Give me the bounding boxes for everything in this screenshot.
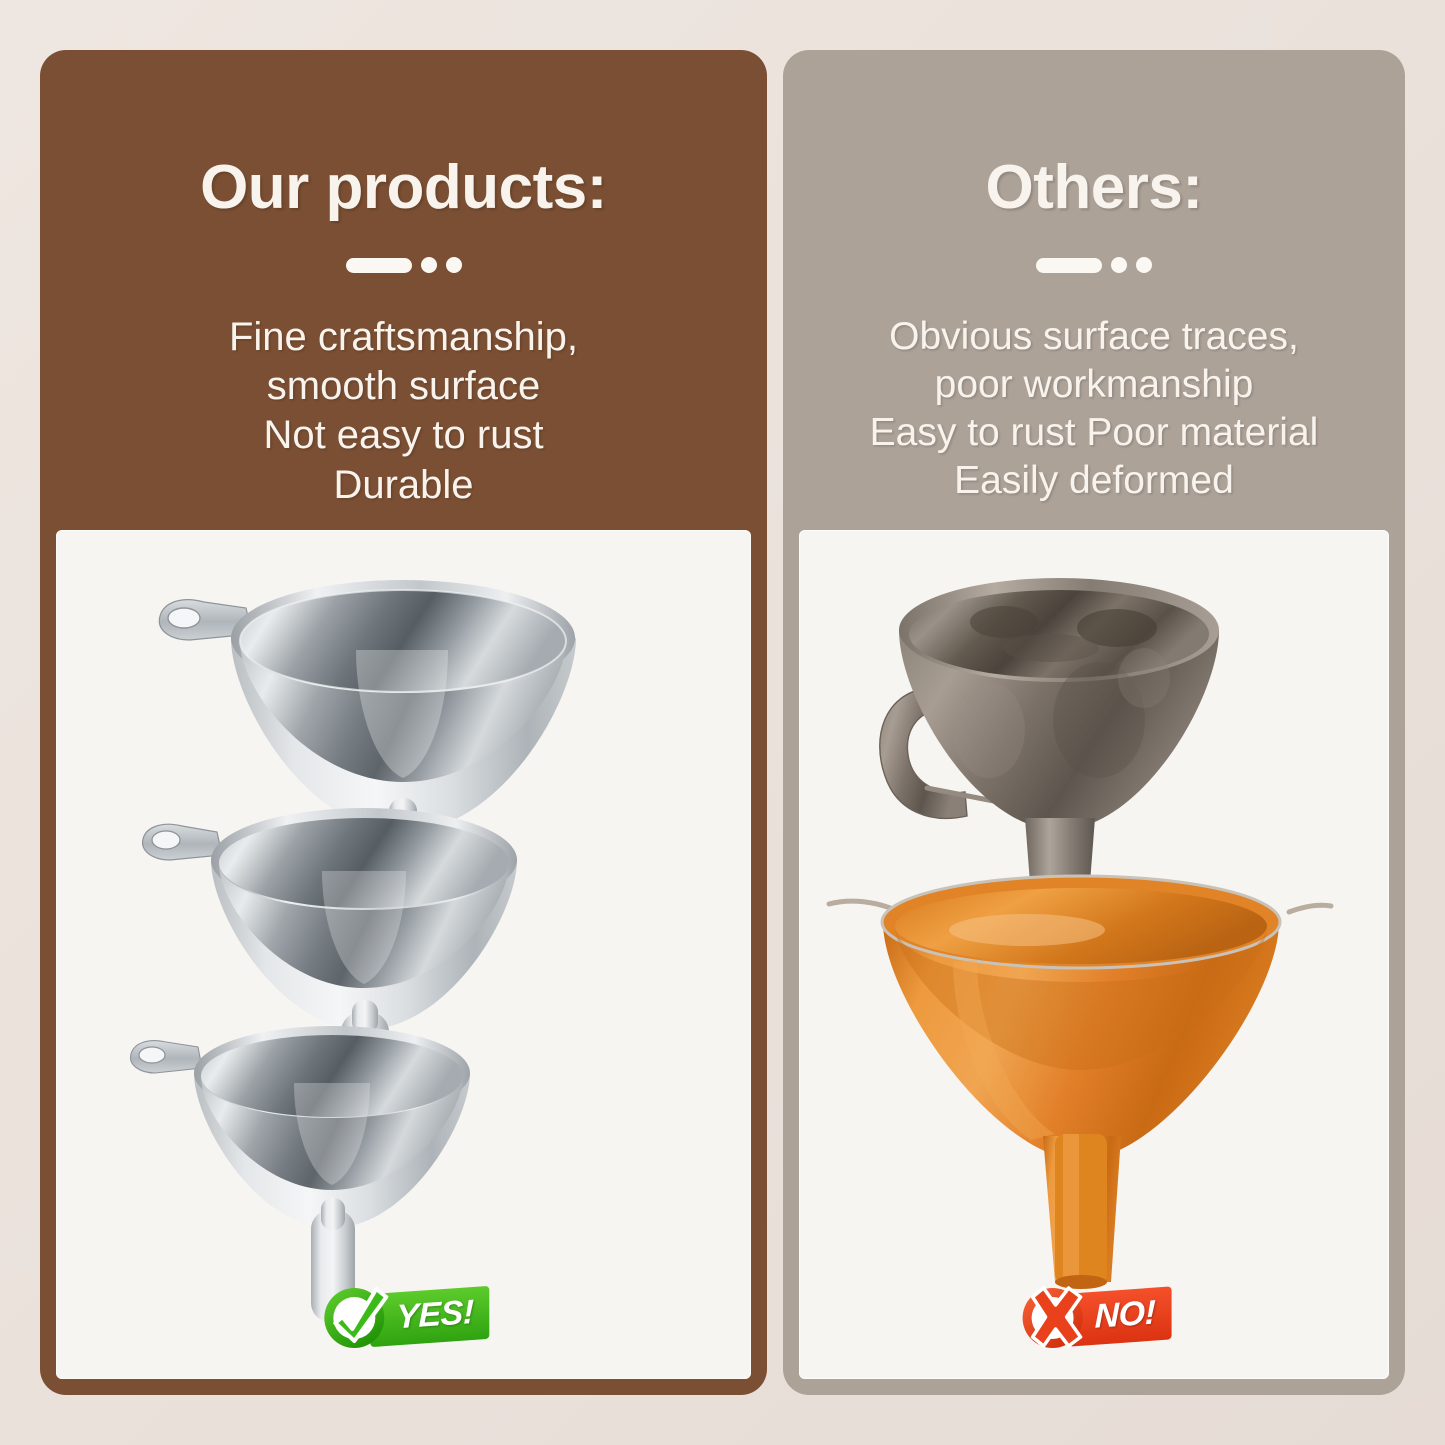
- right-product-photo: NO!: [799, 530, 1389, 1379]
- divider-dot-2: [446, 257, 462, 273]
- divider-dot-1: [421, 257, 437, 273]
- stainless-funnels-illustration: [56, 530, 751, 1350]
- our-products-panel: Our products: Fine craftsmanship, smooth…: [40, 50, 767, 1395]
- right-panel-description: Obvious surface traces, poor workmanship…: [870, 273, 1319, 505]
- rusty-metal-funnel: [880, 578, 1219, 904]
- divider-dot-1: [1111, 257, 1127, 273]
- left-divider-ornament: [346, 257, 462, 273]
- poor-quality-funnels-illustration: [799, 530, 1389, 1350]
- divider-dash: [346, 258, 412, 273]
- orange-plastic-funnel: [829, 876, 1331, 1289]
- right-panel-header: Others: Obvious surface traces, poor wor…: [783, 50, 1405, 530]
- others-panel: Others: Obvious surface traces, poor wor…: [783, 50, 1405, 1395]
- right-panel-title: Others:: [986, 50, 1203, 223]
- comparison-infographic: Our products: Fine craftsmanship, smooth…: [0, 0, 1445, 1445]
- left-panel-header: Our products: Fine craftsmanship, smooth…: [40, 50, 767, 530]
- right-divider-ornament: [1036, 257, 1152, 273]
- divider-dot-2: [1136, 257, 1152, 273]
- funnel-bottom: [131, 1026, 470, 1322]
- divider-dash: [1036, 258, 1102, 273]
- left-panel-description: Fine craftsmanship, smooth surface Not e…: [229, 273, 578, 510]
- left-product-photo: YES!: [56, 530, 751, 1379]
- left-panel-title: Our products:: [200, 50, 607, 223]
